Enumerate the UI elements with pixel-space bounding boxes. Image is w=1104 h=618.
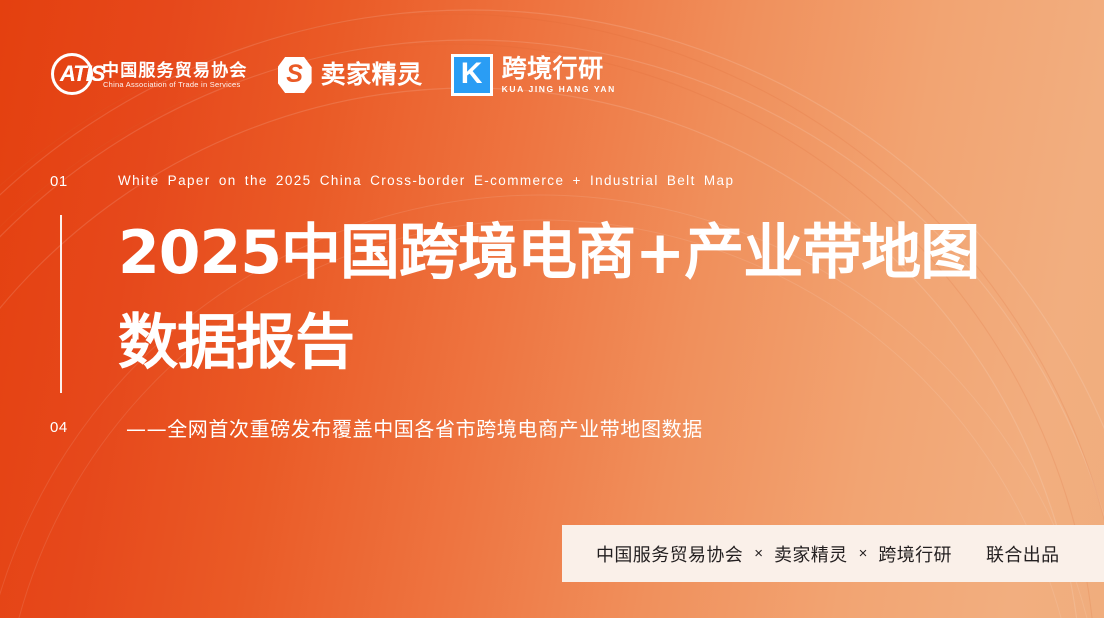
chinese-subtitle: ——全网首次重磅发布覆盖中国各省市跨境电商产业带地图数据 — [126, 413, 703, 442]
seller-sprite-monogram: S — [286, 62, 303, 87]
logo-kua-jing-hang-yan: K 跨境行研 KUA JING HANG YAN — [451, 54, 616, 96]
credit-separator-1: × — [754, 545, 763, 562]
kua-jing-hang-yan-icon-fill: K — [454, 57, 490, 93]
kua-jing-hang-yan-name-en: KUA JING HANG YAN — [502, 84, 616, 95]
section-marker-top: 01 — [50, 173, 68, 190]
page-title-line-2: 数据报告 — [118, 307, 354, 379]
seller-sprite-icon: S — [278, 57, 312, 93]
vertical-divider-rule — [60, 215, 62, 393]
catis-logo-icon: ATIS — [50, 52, 96, 98]
catis-name-en: China Association of Trade in Services — [103, 80, 248, 90]
kua-jing-hang-yan-icon: K — [451, 54, 493, 96]
kua-jing-hang-yan-monogram: K — [461, 59, 483, 89]
slide-canvas: ATIS 中国服务贸易协会 China Association of Trade… — [0, 0, 1104, 618]
seller-sprite-name-cn: 卖家精灵 — [321, 62, 423, 89]
credit-org-2: 卖家精灵 — [774, 541, 848, 567]
credit-joint-production: 联合出品 — [986, 541, 1060, 567]
section-marker-bottom: 04 — [50, 419, 68, 436]
logo-seller-sprite: S 卖家精灵 — [278, 57, 423, 93]
credit-separator-2: × — [859, 545, 868, 562]
credit-org-1: 中国服务贸易协会 — [596, 541, 743, 567]
english-subtitle: White Paper on the 2025 China Cross-bord… — [118, 173, 734, 188]
credit-org-3: 跨境行研 — [878, 541, 952, 567]
credit-bar: 中国服务贸易协会 × 卖家精灵 × 跨境行研 联合出品 — [562, 525, 1104, 582]
page-title-line-1: 2025中国跨境电商+产业带地图 — [118, 217, 979, 289]
catis-wordmark: ATIS — [60, 63, 104, 85]
partner-logo-row: ATIS 中国服务贸易协会 China Association of Trade… — [50, 50, 616, 100]
logo-catis: ATIS 中国服务贸易协会 China Association of Trade… — [50, 52, 248, 98]
kua-jing-hang-yan-name-cn: 跨境行研 — [502, 56, 616, 83]
catis-name-cn: 中国服务贸易协会 — [102, 61, 248, 80]
